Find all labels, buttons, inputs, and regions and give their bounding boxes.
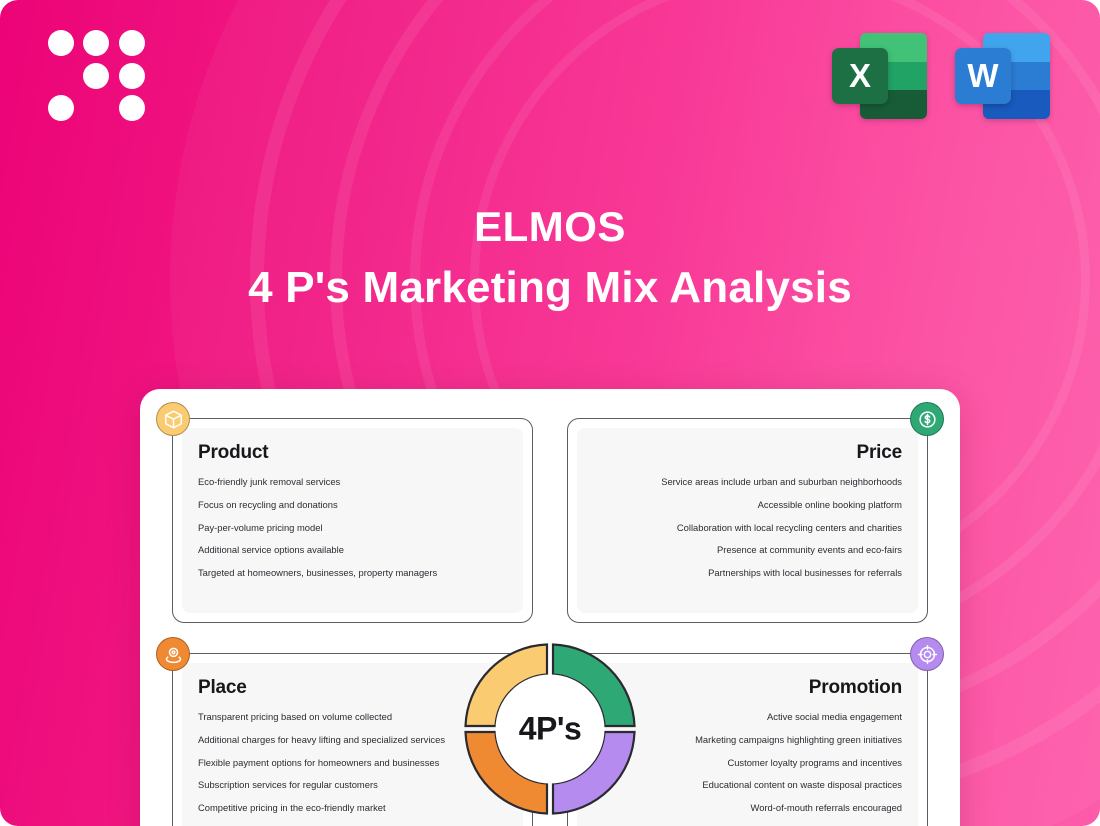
word-badge: W xyxy=(955,48,1011,104)
list-item: Pay-per-volume pricing model xyxy=(198,522,507,534)
page-title: 4 P's Marketing Mix Analysis xyxy=(0,263,1100,314)
package-box-icon xyxy=(156,402,190,436)
slide-canvas: X W ELMOS 4 P's Marketing Mix Analysis xyxy=(0,0,1100,826)
list-item: Collaboration with local recycling cente… xyxy=(593,522,902,534)
analysis-board: Product Eco-friendly junk removal servic… xyxy=(140,389,960,826)
quadrant-title: Product xyxy=(198,442,268,464)
list-item: Additional service options available xyxy=(198,544,507,556)
logo-dot xyxy=(119,95,145,121)
list-item: Accessible online booking platform xyxy=(593,499,902,511)
quadrant-price-body: Price Service areas include urban and su… xyxy=(577,428,918,613)
list-item: Partnerships with local businesses for r… xyxy=(593,567,902,579)
list-item: Active social media engagement xyxy=(593,711,902,723)
list-item: Targeted at homeowners, businesses, prop… xyxy=(198,567,507,579)
donut-svg xyxy=(461,640,639,818)
list-item: Marketing campaigns highlighting green i… xyxy=(593,734,902,746)
excel-icon[interactable]: X xyxy=(832,27,927,122)
logo-dot xyxy=(48,30,74,56)
dollar-circle-icon xyxy=(910,402,944,436)
title-block: ELMOS 4 P's Marketing Mix Analysis xyxy=(0,203,1100,314)
logo-dot xyxy=(48,95,74,121)
list-item: Presence at community events and eco-fai… xyxy=(593,544,902,556)
location-pin-icon xyxy=(156,637,190,671)
quadrant-title: Place xyxy=(198,677,247,699)
logo-dot-empty xyxy=(83,95,109,121)
elmos-dot-logo xyxy=(48,30,148,122)
quadrant-product-body: Product Eco-friendly junk removal servic… xyxy=(182,428,523,613)
brand-name: ELMOS xyxy=(0,203,1100,251)
word-icon[interactable]: W xyxy=(955,27,1050,122)
list-item: Service areas include urban and suburban… xyxy=(593,476,902,488)
center-donut: 4P's xyxy=(461,640,639,818)
quadrant-title: Price xyxy=(857,442,902,464)
office-app-icons: X W xyxy=(832,27,1050,122)
list-item: Word-of-mouth referrals encouraged xyxy=(593,802,902,814)
logo-dot xyxy=(119,63,145,89)
list-item: Customer loyalty programs and incentives xyxy=(593,757,902,769)
logo-dot xyxy=(119,30,145,56)
quadrant-price-list: Service areas include urban and suburban… xyxy=(593,476,902,590)
quadrant-product-list: Eco-friendly junk removal services Focus… xyxy=(198,476,507,590)
excel-badge: X xyxy=(832,48,888,104)
quadrant-promotion-list: Active social media engagement Marketing… xyxy=(593,711,902,825)
target-crosshair-icon xyxy=(910,637,944,671)
logo-dot xyxy=(83,63,109,89)
logo-dot-empty xyxy=(48,63,74,89)
donut-hole xyxy=(496,675,605,784)
list-item: Focus on recycling and donations xyxy=(198,499,507,511)
quadrant-product[interactable]: Product Eco-friendly junk removal servic… xyxy=(172,418,533,623)
quadrant-title: Promotion xyxy=(809,677,902,699)
logo-dot xyxy=(83,30,109,56)
list-item: Eco-friendly junk removal services xyxy=(198,476,507,488)
list-item: Educational content on waste disposal pr… xyxy=(593,779,902,791)
quadrant-price[interactable]: Price Service areas include urban and su… xyxy=(567,418,928,623)
